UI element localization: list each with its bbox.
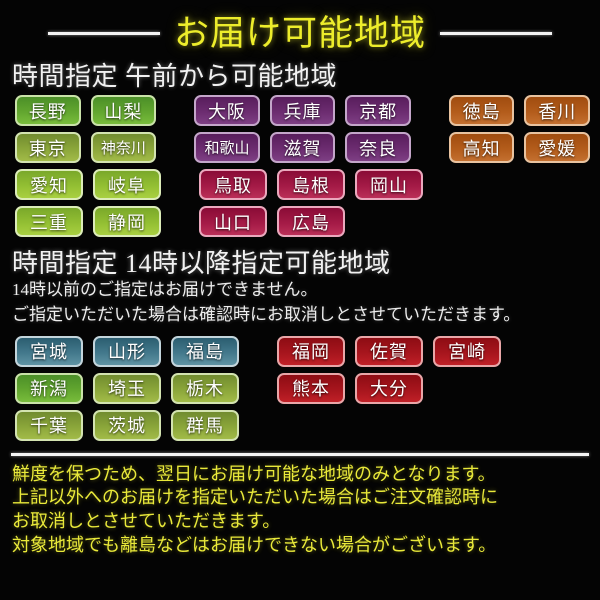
area-badge-香川: 香川 (524, 95, 590, 126)
area-badge-埼玉: 埼玉 (93, 373, 161, 404)
section-afternoon: 時間指定 14時以降指定可能地域 14時以前のご指定はお届けできません。 ご指定… (0, 249, 600, 446)
area-badge-広島: 広島 (277, 206, 345, 237)
area-badge-鳥取: 鳥取 (199, 169, 267, 200)
area-badge-神奈川: 神奈川 (91, 132, 157, 163)
section-heading-afternoon: 時間指定 14時以降指定可能地域 (0, 249, 600, 278)
area-badge-福岡: 福岡 (277, 336, 345, 367)
badge-row: 愛知岐阜鳥取島根岡山 (15, 169, 600, 206)
section-morning: 時間指定 午前から可能地域 長野山梨大阪兵庫京都徳島香川東京神奈川和歌山滋賀奈良… (0, 62, 600, 243)
area-badge-東京: 東京 (15, 132, 81, 163)
area-badge-栃木: 栃木 (171, 373, 239, 404)
badge-row: 千葉茨城群馬 (15, 410, 600, 447)
area-badge-群馬: 群馬 (171, 410, 239, 441)
page-title-row: お届け可能地域 (0, 0, 600, 62)
area-badge-熊本: 熊本 (277, 373, 345, 404)
page-title: お届け可能地域 (174, 16, 426, 51)
area-badge-和歌山: 和歌山 (194, 132, 260, 163)
area-badge-高知: 高知 (449, 132, 515, 163)
area-badge-山口: 山口 (199, 206, 267, 237)
area-badge-新潟: 新潟 (15, 373, 83, 404)
area-badge-山梨: 山梨 (91, 95, 157, 126)
area-badge-長野: 長野 (15, 95, 81, 126)
area-badge-宮崎: 宮崎 (433, 336, 501, 367)
badge-grid-afternoon: 宮城山形福島福岡佐賀宮崎新潟埼玉栃木熊本大分千葉茨城群馬 (0, 328, 600, 447)
area-badge-大分: 大分 (355, 373, 423, 404)
area-badge-三重: 三重 (15, 206, 83, 237)
area-badge-愛知: 愛知 (15, 169, 83, 200)
badge-row: 三重静岡山口広島 (15, 206, 600, 243)
area-badge-兵庫: 兵庫 (270, 95, 336, 126)
footer-line-2: 上記以外へのお届けを指定いただいた場合はご注文確認時に (12, 486, 600, 510)
area-badge-静岡: 静岡 (93, 206, 161, 237)
area-badge-宮城: 宮城 (15, 336, 83, 367)
section-heading-morning: 時間指定 午前から可能地域 (0, 62, 600, 91)
area-badge-徳島: 徳島 (449, 95, 515, 126)
badge-grid-morning: 長野山梨大阪兵庫京都徳島香川東京神奈川和歌山滋賀奈良高知愛媛愛知岐阜鳥取島根岡山… (0, 91, 600, 243)
section-note-line-2: ご指定いただいた場合は確認時にお取消しとさせていただきます。 (0, 303, 600, 328)
area-badge-佐賀: 佐賀 (355, 336, 423, 367)
area-badge-京都: 京都 (345, 95, 411, 126)
area-badge-岡山: 岡山 (355, 169, 423, 200)
area-badge-福島: 福島 (171, 336, 239, 367)
title-rule-left (48, 32, 160, 35)
area-badge-山形: 山形 (93, 336, 161, 367)
section-note-line-1: 14時以前のご指定はお届けできません。 (0, 278, 600, 303)
badge-row: 長野山梨大阪兵庫京都徳島香川 (15, 95, 600, 132)
footer-line-3: お取消しとさせていただきます。 (12, 510, 600, 534)
area-badge-岐阜: 岐阜 (93, 169, 161, 200)
delivery-area-banner: { "header": { "title": "お届け可能地域", "rule_… (0, 0, 600, 600)
area-badge-奈良: 奈良 (345, 132, 411, 163)
area-badge-千葉: 千葉 (15, 410, 83, 441)
area-badge-茨城: 茨城 (93, 410, 161, 441)
badge-row: 東京神奈川和歌山滋賀奈良高知愛媛 (15, 132, 600, 169)
area-badge-愛媛: 愛媛 (524, 132, 590, 163)
area-badge-大阪: 大阪 (194, 95, 260, 126)
badge-row: 宮城山形福島福岡佐賀宮崎 (15, 336, 600, 373)
area-badge-島根: 島根 (277, 169, 345, 200)
footer-notes: 鮮度を保つため、翌日にお届け可能な地域のみとなります。 上記以外へのお届けを指定… (0, 456, 600, 558)
area-badge-滋賀: 滋賀 (270, 132, 336, 163)
badge-row: 新潟埼玉栃木熊本大分 (15, 373, 600, 410)
title-rule-right (440, 32, 552, 35)
footer-line-4: 対象地域でも離島などはお届けできない場合がございます。 (12, 534, 600, 558)
footer-line-1: 鮮度を保つため、翌日にお届け可能な地域のみとなります。 (12, 463, 600, 487)
